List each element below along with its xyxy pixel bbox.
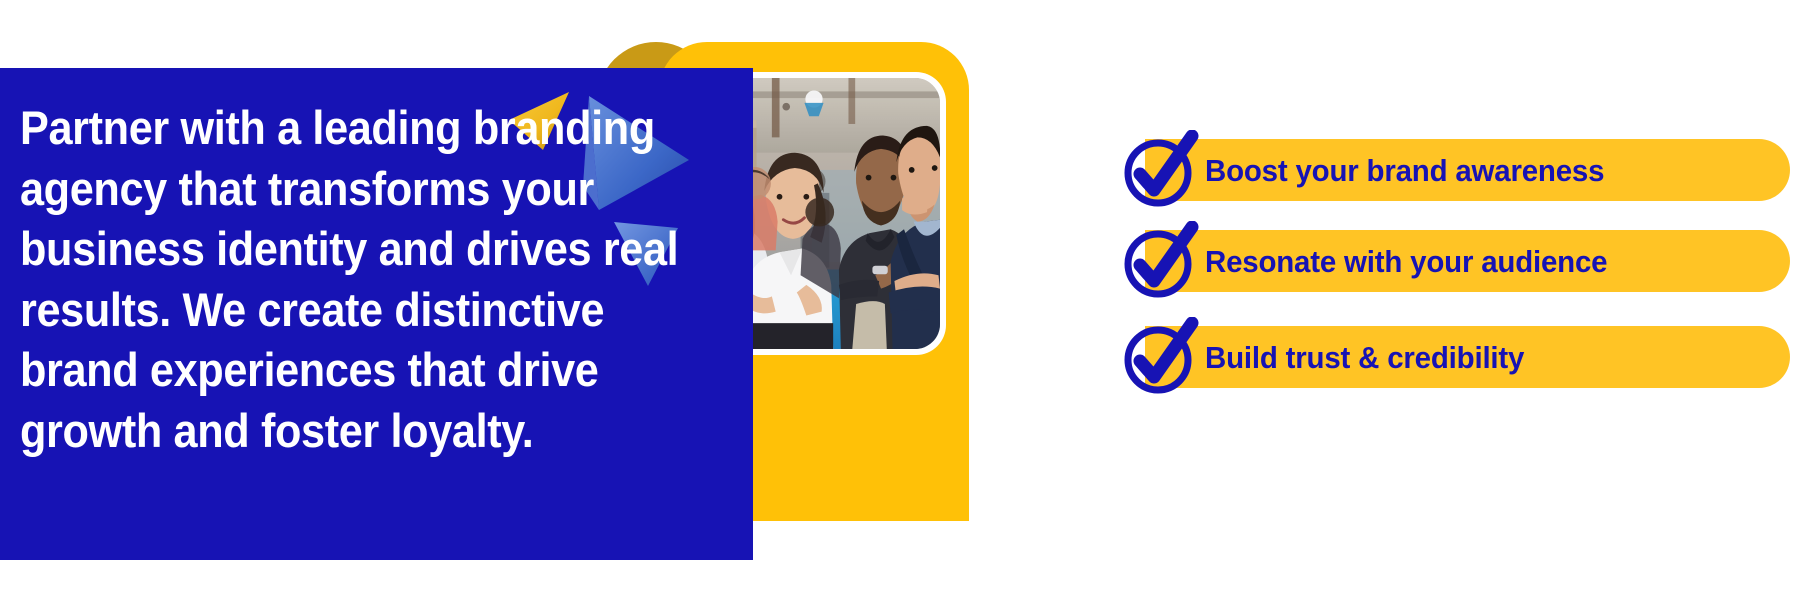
benefit-pill-3[interactable]: Build trust & credibility (1145, 326, 1790, 388)
benefit-pill-2[interactable]: Resonate with your audience (1145, 230, 1790, 292)
benefit-label-3: Build trust & credibility (1205, 342, 1524, 373)
check-circle-icon (1120, 317, 1200, 397)
benefit-label-2: Resonate with your audience (1205, 246, 1607, 277)
benefit-label-1: Boost your brand awareness (1205, 155, 1604, 186)
benefits-checklist: Boost your brand awareness Resonate with… (0, 0, 1800, 600)
check-circle-icon (1120, 130, 1200, 210)
checklist-item-3[interactable]: Build trust & credibility (1120, 326, 1770, 388)
checklist-item-1[interactable]: Boost your brand awareness (1120, 139, 1770, 201)
banner-root: Partner with a leading branding agency t… (0, 0, 1800, 600)
benefit-pill-1[interactable]: Boost your brand awareness (1145, 139, 1790, 201)
check-circle-icon (1120, 221, 1200, 301)
checklist-item-2[interactable]: Resonate with your audience (1120, 230, 1770, 292)
